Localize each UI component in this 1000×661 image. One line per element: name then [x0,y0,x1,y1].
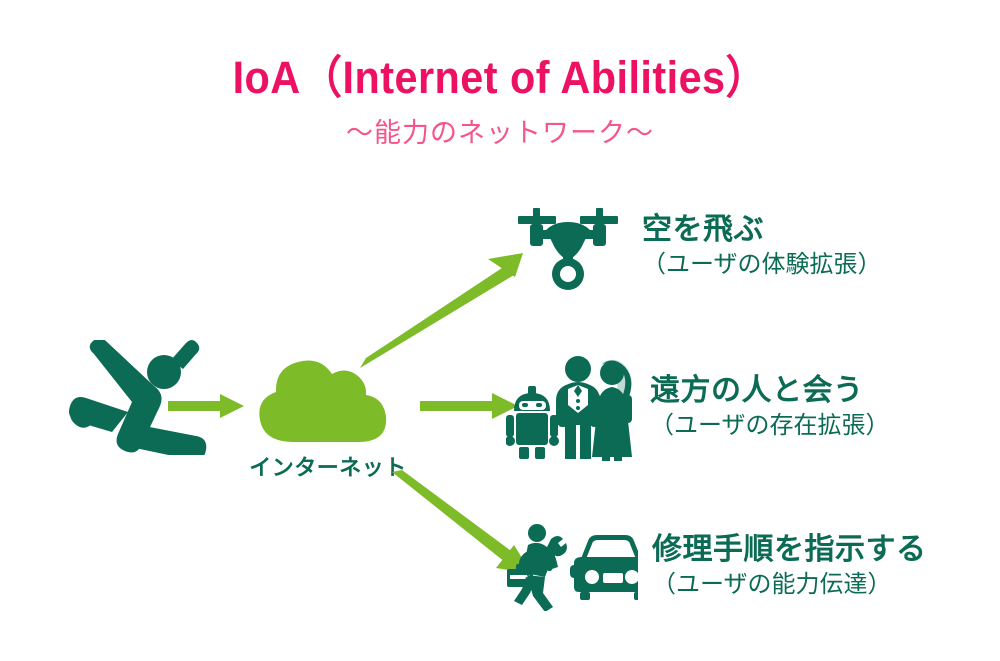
arrow-cloud-to-fly-icon [358,250,528,380]
mechanic-and-car-icon [504,521,638,611]
page-title: IoA（Internet of Abilities） [40,54,960,101]
arrow-cloud-to-meet-icon [420,388,520,424]
ability-title-meet: 遠方の人と会う [650,374,890,409]
ability-text-repair: 修理手順を指示する （ユーザの能力伝達） [652,533,927,599]
title-block: IoA（Internet of Abilities） 〜能力のネットワーク〜 [0,54,1000,150]
diagram-canvas: IoA（Internet of Abilities） 〜能力のネットワーク〜 [0,0,1000,661]
ability-title-fly: 空を飛ぶ [642,213,882,248]
ability-row-repair: 修理手順を指示する （ユーザの能力伝達） [504,516,927,616]
ability-subtitle-repair: （ユーザの能力伝達） [652,571,927,599]
robot-and-wedding-couple-icon [506,353,632,461]
ability-row-fly: 空を飛ぶ （ユーザの体験拡張） [516,196,882,296]
ability-text-meet: 遠方の人と会う （ユーザの存在拡張） [650,374,890,440]
ability-title-repair: 修理手順を指示する [652,533,927,568]
drone-icon [516,200,620,292]
ability-subtitle-fly: （ユーザの体験拡張） [642,251,882,279]
ability-row-meet: 遠方の人と会う （ユーザの存在拡張） [506,352,890,462]
ability-text-fly: 空を飛ぶ （ユーザの体験拡張） [642,213,882,279]
arrow-user-to-cloud-icon [168,388,248,424]
page-subtitle: 〜能力のネットワーク〜 [0,111,1000,150]
ability-subtitle-meet: （ユーザの存在拡張） [650,412,890,440]
